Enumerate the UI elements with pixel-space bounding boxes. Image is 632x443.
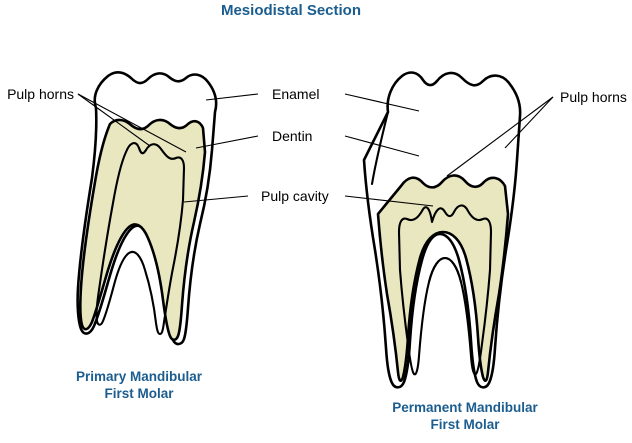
label-dentin: Dentin [272, 128, 312, 144]
tooth-anatomy-diagram: Mesiodistal Section Primary Mandibular F… [0, 0, 632, 443]
permanent-tooth-caption-line2: First Molar [430, 417, 500, 432]
primary-tooth-caption-line1: Primary Mandibular [76, 369, 203, 384]
permanent-mandibular-first-molar: Permanent Mandibular First Molar [364, 73, 539, 432]
label-enamel: Enamel [272, 86, 319, 102]
label-pulp-cavity: Pulp cavity [261, 188, 329, 204]
permanent-tooth-root-canal-split [429, 258, 461, 282]
permanent-tooth-caption-line1: Permanent Mandibular [392, 400, 538, 415]
primary-tooth-caption-line2: First Molar [104, 386, 174, 401]
primary-mandibular-first-molar: Primary Mandibular First Molar [76, 72, 216, 401]
label-pulp-horns-right: Pulp horns [560, 89, 627, 105]
label-pulp-horns-left: Pulp horns [7, 86, 74, 102]
page-title: Mesiodistal Section [221, 2, 361, 19]
mesiodistal-section-figure: Mesiodistal Section Primary Mandibular F… [0, 0, 632, 443]
